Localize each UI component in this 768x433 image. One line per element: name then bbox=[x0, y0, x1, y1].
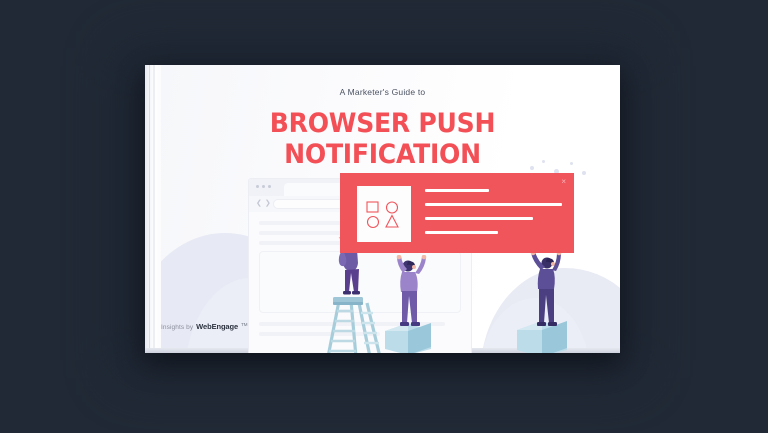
scene-stage: ❮ ❯ A Marketer's Guide to BROWSER PUSH N… bbox=[0, 0, 768, 433]
notification-line bbox=[425, 217, 533, 220]
cover-titles: A Marketer's Guide to BROWSER PUSH NOTIF… bbox=[145, 65, 620, 170]
notification-text-lines bbox=[425, 189, 562, 245]
ebook-cover: ❮ ❯ A Marketer's Guide to BROWSER PUSH N… bbox=[145, 65, 620, 353]
cover-title: BROWSER PUSH NOTIFICATION bbox=[162, 108, 604, 170]
notification-thumbnail bbox=[357, 186, 411, 242]
close-icon[interactable]: × bbox=[561, 178, 566, 186]
cover-kicker: A Marketer's Guide to bbox=[145, 87, 620, 97]
step-ladder bbox=[325, 297, 387, 353]
forward-arrow-icon: ❯ bbox=[265, 200, 271, 208]
cover-title-line-1: BROWSER PUSH bbox=[270, 108, 495, 139]
notification-line bbox=[425, 231, 498, 234]
cover-title-line-2: NOTIFICATION bbox=[162, 139, 604, 170]
shapes-icon bbox=[364, 199, 404, 229]
traffic-dot-close-icon bbox=[256, 185, 259, 188]
push-notification-popup[interactable]: × bbox=[340, 173, 574, 253]
footer-logo-brand: WebEngage bbox=[196, 322, 238, 331]
traffic-dot-maximize-icon bbox=[268, 185, 271, 188]
back-arrow-icon: ❮ bbox=[256, 200, 262, 208]
notification-line bbox=[425, 203, 562, 206]
figure-on-block-middle bbox=[389, 255, 433, 341]
footer-logo-trademark: TM bbox=[241, 322, 248, 327]
notification-line bbox=[425, 189, 489, 192]
figure-on-block-right bbox=[523, 251, 567, 341]
footer-logo-prefix: Insights by bbox=[161, 324, 193, 331]
browser-nav-arrows: ❮ ❯ bbox=[256, 200, 271, 208]
traffic-dot-minimize-icon bbox=[262, 185, 265, 188]
footer-logo: Insights by WebEngage TM bbox=[161, 322, 248, 331]
browser-traffic-lights bbox=[256, 185, 271, 188]
